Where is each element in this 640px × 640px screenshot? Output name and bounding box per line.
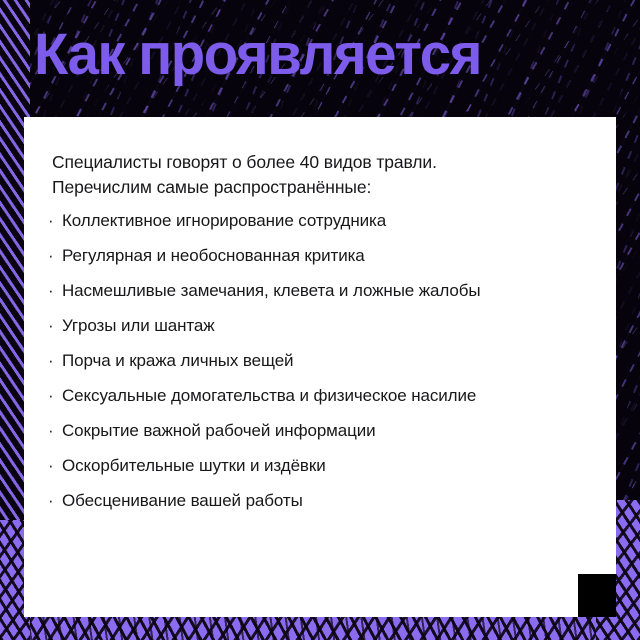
list-item-label: Порча и кража личных вещей: [62, 349, 293, 373]
bullet-dot-icon: ·: [48, 419, 62, 443]
bullet-dot-icon: ·: [48, 489, 62, 513]
content-card: Специалисты говорят о более 40 видов тра…: [24, 117, 616, 617]
intro-line-1: Специалисты говорят о более 40 видов тра…: [52, 152, 437, 172]
list-item: · Порча и кража личных вещей: [48, 349, 608, 384]
bullet-dot-icon: ·: [48, 454, 62, 478]
bullet-dot-icon: ·: [48, 209, 62, 233]
bullet-list: · Коллективное игнорирование сотрудника …: [48, 209, 608, 524]
list-item: · Регулярная и необоснованная критика: [48, 244, 608, 279]
bullet-dot-icon: ·: [48, 279, 62, 303]
list-item-label: Обесценивание вашей работы: [62, 489, 303, 513]
list-item: · Сексуальные домогательства и физическо…: [48, 384, 608, 419]
page-title: Как проявляется: [34, 22, 577, 88]
list-item: · Насмешливые замечания, клевета и ложны…: [48, 279, 608, 314]
list-item-label: Насмешливые замечания, клевета и ложные …: [62, 279, 481, 303]
bullet-dot-icon: ·: [48, 349, 62, 373]
bullet-dot-icon: ·: [48, 244, 62, 268]
bullet-dot-icon: ·: [48, 314, 62, 338]
list-item: · Обесценивание вашей работы: [48, 489, 608, 524]
list-item-label: Сексуальные домогательства и физическое …: [62, 384, 476, 408]
list-item: · Коллективное игнорирование сотрудника: [48, 209, 608, 244]
bullet-dot-icon: ·: [48, 384, 62, 408]
list-item: · Угрозы или шантаж: [48, 314, 608, 349]
list-item-label: Регулярная и необоснованная критика: [62, 244, 365, 268]
list-item-label: Оскорбительные шутки и издёвки: [62, 454, 326, 478]
intro-paragraph: Специалисты говорят о более 40 видов тра…: [52, 150, 592, 200]
list-item-label: Угрозы или шантаж: [62, 314, 215, 338]
list-item-label: Коллективное игнорирование сотрудника: [62, 209, 386, 233]
list-item: · Сокрытие важной рабочей информации: [48, 419, 608, 454]
list-item-label: Сокрытие важной рабочей информации: [62, 419, 376, 443]
card-corner-notch: [578, 574, 616, 617]
intro-line-2: Перечислим самые распространённые:: [52, 177, 371, 197]
slide-root: Как проявляется Специалисты говорят о бо…: [0, 0, 640, 640]
list-item: · Оскорбительные шутки и издёвки: [48, 454, 608, 489]
